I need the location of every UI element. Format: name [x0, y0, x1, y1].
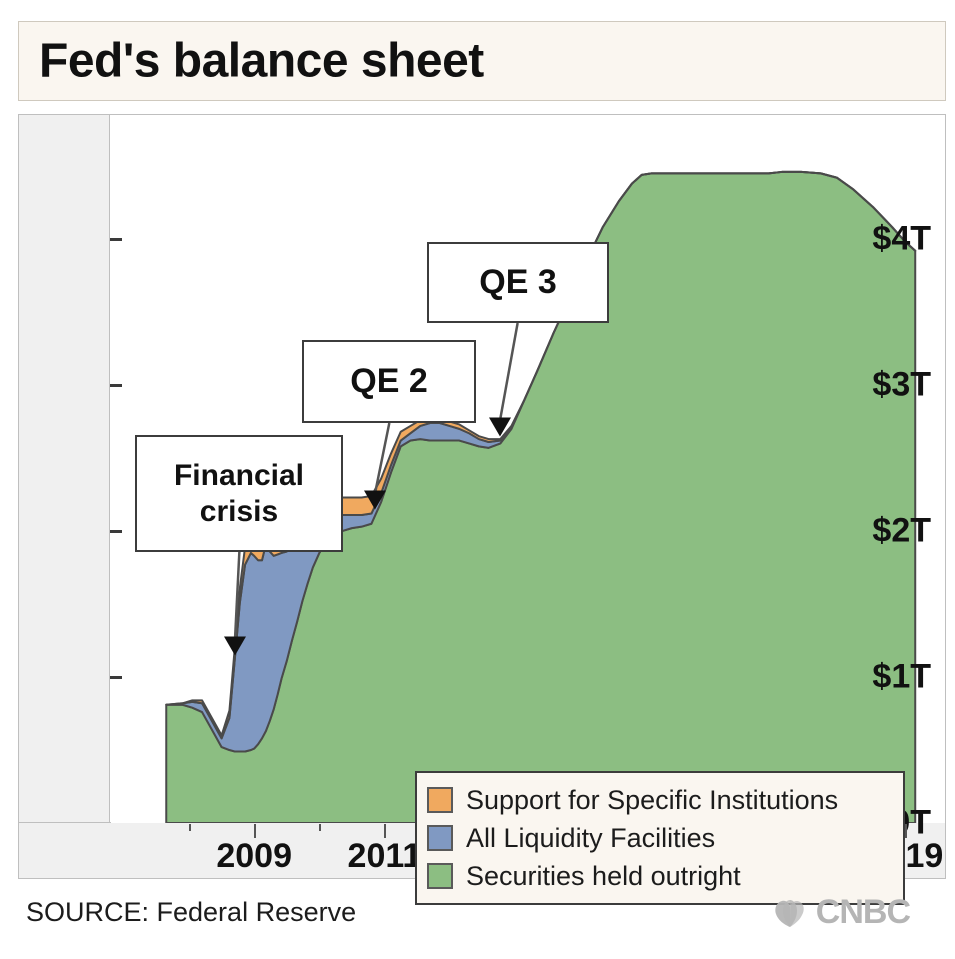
- y-axis-label: $4T: [872, 220, 931, 259]
- y-axis-label: $2T: [872, 512, 931, 551]
- arrow-icon: [486, 323, 532, 437]
- legend-label: All Liquidity Facilities: [466, 823, 715, 854]
- cnbc-wordmark: CNBC: [816, 893, 910, 932]
- cnbc-logo: CNBC: [770, 893, 910, 932]
- annotation-arrow-qe-2: [361, 423, 403, 510]
- y-axis-tick: [110, 676, 122, 679]
- x-axis-tick: [384, 824, 386, 838]
- arrow-icon: [221, 552, 253, 656]
- y-axis-tick: [110, 530, 122, 533]
- legend-item: All Liquidity Facilities: [427, 819, 889, 857]
- annotation-qe-3: QE 3: [427, 242, 609, 323]
- annotation-arrow-financial-crisis: [221, 552, 253, 656]
- chart-legend: Support for Specific InstitutionsAll Liq…: [415, 771, 905, 905]
- y-axis-tick: [110, 238, 122, 241]
- y-axis-gutter: [19, 115, 110, 823]
- y-axis-tick: [110, 384, 122, 387]
- x-axis-label: 2011: [348, 837, 422, 876]
- page-title: Fed's balance sheet: [39, 34, 484, 89]
- annotation-financial-crisis: Financialcrisis: [135, 435, 343, 552]
- arrow-icon: [361, 423, 403, 510]
- y-axis-label: $3T: [872, 366, 931, 405]
- x-axis-tick: [254, 824, 256, 838]
- nbc-peacock-icon: [770, 896, 810, 930]
- legend-swatch: [427, 787, 453, 813]
- y-axis-label: $1T: [872, 658, 931, 697]
- title-bar: Fed's balance sheet: [18, 21, 946, 101]
- chart-frame: $0T$1T$2T$3T$4T200920112013201520172019 …: [18, 114, 946, 879]
- x-axis-tick-minor: [319, 824, 321, 831]
- x-axis-tick-minor: [189, 824, 191, 831]
- annotation-line-1: Financial: [174, 458, 304, 493]
- x-axis-label: 2009: [216, 837, 292, 876]
- legend-item: Support for Specific Institutions: [427, 781, 889, 819]
- chart-page: Fed's balance sheet $0T$1T$2T$3T$4T20092…: [0, 0, 955, 959]
- chart-footer: SOURCE: Federal Reserve CNBC: [18, 893, 946, 941]
- legend-label: Support for Specific Institutions: [466, 785, 838, 816]
- x-axis-tick: [905, 824, 907, 838]
- annotation-qe-2: QE 2: [302, 340, 476, 423]
- legend-item: Securities held outright: [427, 857, 889, 895]
- legend-swatch: [427, 863, 453, 889]
- source-note: SOURCE: Federal Reserve: [26, 897, 356, 928]
- annotation-line-2: crisis: [174, 494, 304, 529]
- annotation-label: Financialcrisis: [174, 458, 304, 529]
- annotation-label: QE 3: [479, 262, 556, 302]
- legend-label: Securities held outright: [466, 861, 741, 892]
- legend-swatch: [427, 825, 453, 851]
- annotation-label: QE 2: [350, 361, 427, 401]
- annotation-arrow-qe-3: [486, 323, 532, 437]
